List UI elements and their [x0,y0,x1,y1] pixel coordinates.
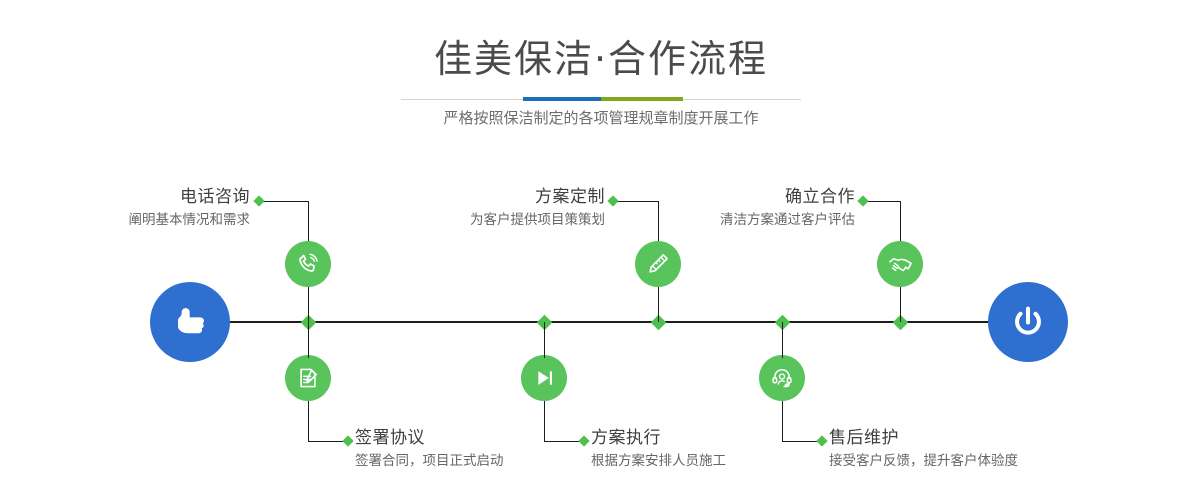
step-desc-2: 签署合同，项目正式启动 [355,450,504,472]
divider-green-segment [601,97,683,101]
phone-call-icon [295,251,321,277]
connector-vline-3 [658,287,659,322]
step-node-1 [285,241,331,287]
connector-hline-1 [262,201,309,202]
connector-vline-1 [308,287,309,322]
step-label-4: 方案执行 根据方案安排人员施工 [591,427,726,472]
step-node-4 [521,355,567,401]
step-label-1: 电话咨询 阐明基本情况和需求 [0,186,250,231]
pointing-hand-icon [167,299,213,345]
step-desc-6: 接受客户反馈，提升客户体验度 [829,450,1018,472]
power-icon [1005,299,1051,345]
connector-vline-1-top [308,201,309,241]
play-skip-icon [531,365,557,391]
step-title-3: 方案定制 [355,186,605,208]
step-node-6 [759,355,805,401]
label-diamond-5 [857,195,868,206]
process-flow-infographic: 佳美保洁·合作流程 严格按照保洁制定的各项管理规章制度开展工作 [0,0,1202,502]
step-title-6: 售后维护 [829,427,1018,449]
connector-vline-5-top [900,201,901,241]
headset-support-icon [769,365,795,391]
label-diamond-4 [578,435,589,446]
step-label-3: 方案定制 为客户提供项目策策划 [355,186,605,231]
step-label-2: 签署协议 签署合同，项目正式启动 [355,427,504,472]
label-diamond-1 [253,195,264,206]
connector-vline-4-top [544,322,545,358]
step-node-2 [285,355,331,401]
title-divider [401,97,801,101]
label-diamond-2 [342,435,353,446]
document-edit-icon [295,365,321,391]
step-label-5: 确立合作 清洁方案通过客户评估 [605,186,855,231]
label-diamond-6 [816,435,827,446]
divider-right-rule [683,99,801,100]
connector-vline-6 [782,401,783,441]
step-node-3 [635,241,681,287]
connector-vline-2 [308,401,309,441]
connector-hline-5 [866,201,901,202]
step-label-6: 售后维护 接受客户反馈，提升客户体验度 [829,427,1018,472]
divider-blue-segment [523,97,601,101]
page-subtitle: 严格按照保洁制定的各项管理规章制度开展工作 [0,106,1202,130]
connector-vline-4 [544,401,545,441]
connector-vline-5 [900,287,901,322]
step-desc-1: 阐明基本情况和需求 [0,209,250,231]
step-desc-5: 清洁方案通过客户评估 [605,209,855,231]
step-title-4: 方案执行 [591,427,726,449]
step-desc-3: 为客户提供项目策策划 [355,209,605,231]
pencil-ruler-icon [645,251,671,277]
step-title-5: 确立合作 [605,186,855,208]
handshake-icon [887,251,914,278]
connector-vline-2-top [308,322,309,358]
timeline-end-endpoint [988,282,1068,362]
step-node-5 [877,241,923,287]
step-title-1: 电话咨询 [0,186,250,208]
connector-vline-6-top [782,322,783,358]
timeline-start-endpoint [150,282,230,362]
step-title-2: 签署协议 [355,427,504,449]
divider-left-rule [401,99,523,100]
step-desc-4: 根据方案安排人员施工 [591,450,726,472]
page-title: 佳美保洁·合作流程 [0,36,1202,82]
